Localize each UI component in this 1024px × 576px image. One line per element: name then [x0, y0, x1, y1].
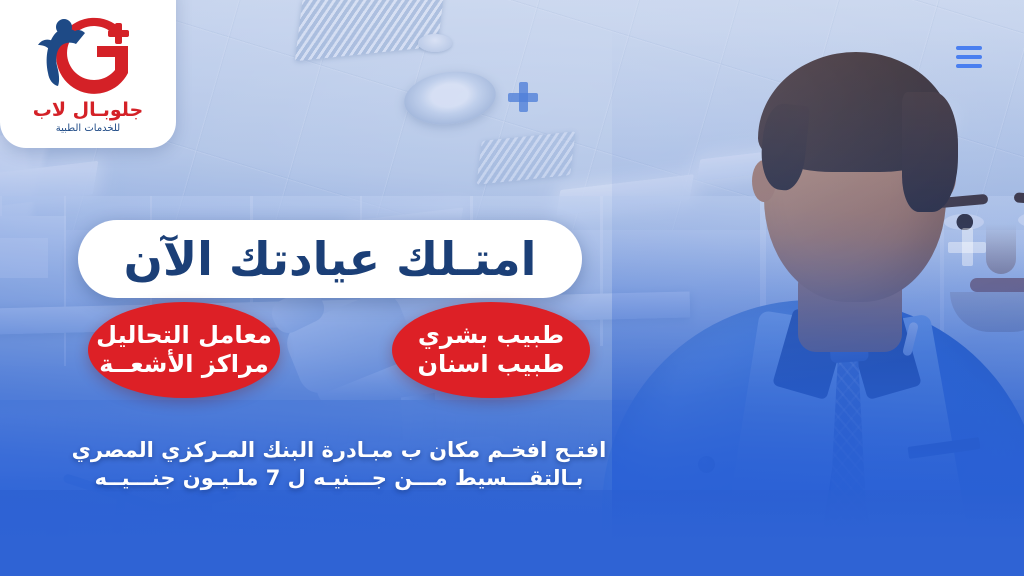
badge-doctors: طبيب بشري طبيب اسنان [392, 302, 590, 398]
bottom-blue-band [0, 490, 1024, 576]
promo-banner: جلوبـال لاب للخدمات الطبية امتـلك عيادتك… [0, 0, 1024, 576]
badge-doctors-line2: طبيب اسنان [417, 350, 564, 379]
badge-doctors-line1: طبيب بشري [418, 321, 564, 350]
page-title: امتـلك عيادتك الآن [124, 236, 537, 282]
offer-text: افتـح افخـم مكان ب مبـادرة البنك المـركز… [52, 436, 626, 493]
offer-line-1: افتـح افخـم مكان ب مبـادرة البنك المـركز… [52, 436, 626, 464]
brand-logo-card[interactable]: جلوبـال لاب للخدمات الطبية [0, 0, 176, 148]
hamburger-menu-icon[interactable] [956, 46, 982, 68]
badge-services-line2: مراكز الأشعــة [99, 350, 268, 379]
brand-name: جلوبـال لاب [33, 101, 143, 120]
headline-pill: امتـلك عيادتك الآن [78, 220, 582, 298]
badge-services: معامل التحاليل مراكز الأشعــة [88, 302, 280, 398]
brand-tagline: للخدمات الطبية [56, 124, 120, 134]
plus-icon [508, 82, 538, 112]
badge-services-line1: معامل التحاليل [96, 321, 272, 350]
global-lab-g-plus-logo [29, 11, 147, 95]
plus-icon [948, 228, 986, 266]
offer-line-2: بـالتقـــسيط مـــن جـــنيـه ل 7 ملـيـون … [52, 464, 626, 492]
